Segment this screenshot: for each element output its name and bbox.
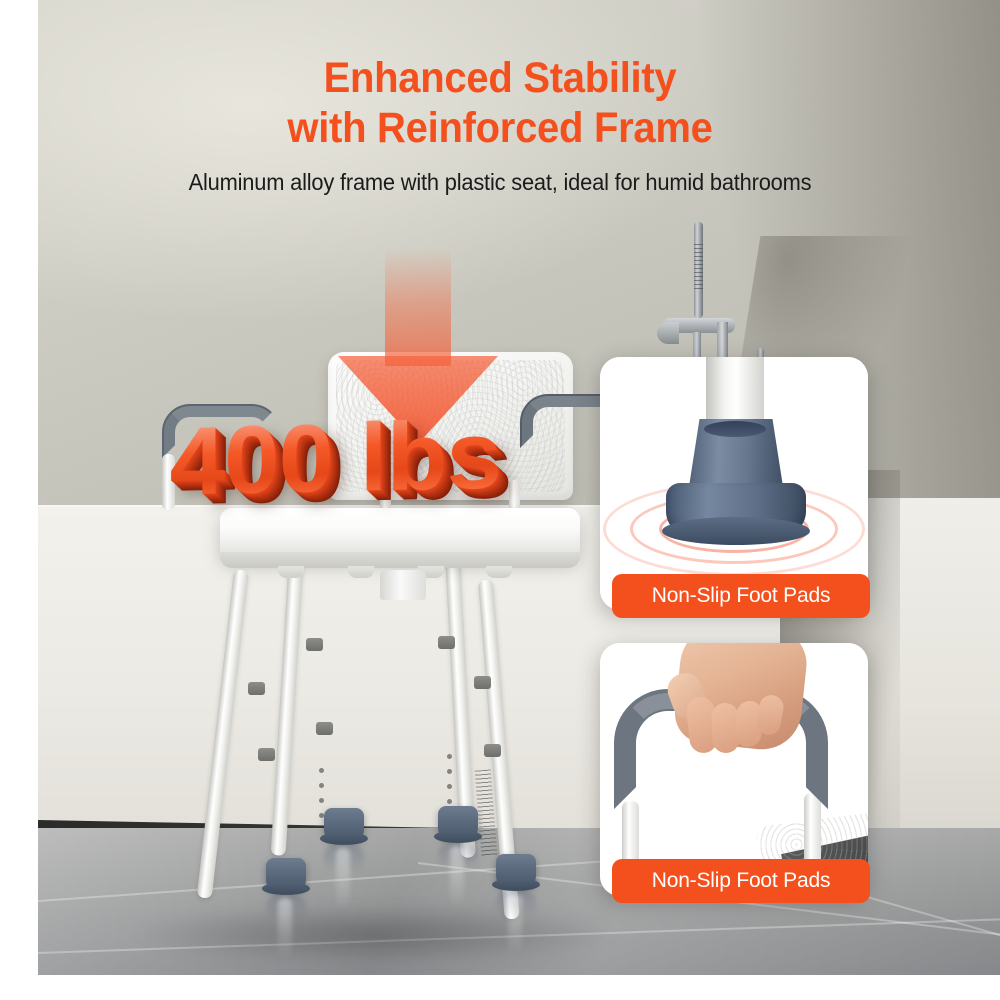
wand-ribbing <box>694 244 703 290</box>
chair-leg-back-left <box>271 538 305 856</box>
seat-mount-nub <box>348 566 374 578</box>
swivel-mechanism <box>380 570 426 600</box>
headline-line-1: Enhanced Stability <box>35 54 965 104</box>
product-feature-image: 400 lbs 400 lbs Enhanced Stability with … <box>0 0 1000 1000</box>
foot-pad-closeup-photo <box>600 357 868 610</box>
chair-leg-front-left <box>197 569 249 899</box>
armrest-leg-left <box>622 801 639 867</box>
caption-badge-foot-pads: Non-Slip Foot Pads <box>612 574 870 618</box>
seat-mount-nub <box>486 566 512 578</box>
foot-pad-back-right <box>438 806 478 840</box>
weight-capacity-text: 400 lbs <box>170 401 501 518</box>
foot-cap-lip <box>662 517 810 545</box>
foot-pad-back-left <box>324 808 364 842</box>
foot-pad-front-left <box>266 858 306 892</box>
foot-cap-opening <box>704 421 766 437</box>
arrow-shaft <box>385 248 451 366</box>
inset-panel-foot-pad <box>600 357 868 610</box>
caption-badge-handle: Non-Slip Foot Pads <box>612 859 870 903</box>
foot-pad-front-right <box>496 854 536 888</box>
leg-adjust-band <box>438 636 455 649</box>
leg-adjust-band <box>316 722 333 735</box>
leg-adjust-band <box>484 744 501 757</box>
leg-adjust-band <box>474 676 491 689</box>
subtitle: Aluminum alloy frame with plastic seat, … <box>25 169 975 196</box>
chair-seat-front-edge <box>220 552 580 568</box>
leg-reflection <box>278 898 292 960</box>
headline: Enhanced Stability with Reinforced Frame <box>35 54 965 154</box>
leg-reflection <box>336 848 350 910</box>
headline-line-2: with Reinforced Frame <box>35 104 965 154</box>
leg-height-holes <box>442 754 457 804</box>
leg-adjust-band <box>248 682 265 695</box>
leg-reflection <box>508 894 522 956</box>
leg-adjust-band <box>306 638 323 651</box>
seat-mount-nub <box>278 566 304 578</box>
leg-reflection <box>450 846 464 908</box>
leg-adjust-band <box>258 748 275 761</box>
